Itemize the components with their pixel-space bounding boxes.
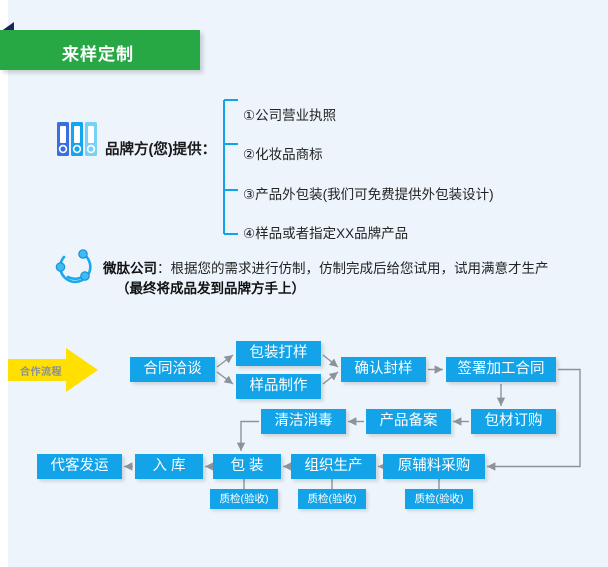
flow-node-raw_purchase[interactable]: 原辅料采购	[383, 454, 485, 479]
flow-node-contract_talk[interactable]: 合同洽谈	[130, 357, 215, 382]
flow-node-qc_packaging[interactable]: 质检(验收)	[210, 489, 278, 509]
flow-node-pkg_proof[interactable]: 包装打样	[236, 341, 321, 366]
flow-connectors	[0, 0, 608, 567]
flow-node-sample_make[interactable]: 样品制作	[236, 374, 321, 399]
flow-node-agent_ship[interactable]: 代客发运	[37, 454, 122, 479]
flow-node-sign_contract[interactable]: 签署加工合同	[446, 357, 556, 382]
flow-node-pkg_order[interactable]: 包材订购	[471, 409, 556, 434]
flow-node-organize_prod[interactable]: 组织生产	[291, 454, 376, 479]
flow-node-qc_raw[interactable]: 质检(验收)	[405, 489, 473, 509]
flow-node-packaging[interactable]: 包 装	[213, 454, 281, 479]
flow-node-warehouse[interactable]: 入 库	[135, 454, 203, 479]
flow-node-clean_sterile[interactable]: 清洁消毒	[261, 409, 346, 434]
flow-node-qc_production[interactable]: 质检(验收)	[298, 489, 366, 509]
flowchart-page: 来样定制 品牌方(您)提供： ①公司营业执照 ②化妆品商标 ③产品外包装(我们可…	[0, 0, 608, 567]
flow-node-confirm_seal[interactable]: 确认封样	[341, 357, 426, 382]
flow-node-product_record[interactable]: 产品备案	[366, 409, 451, 434]
